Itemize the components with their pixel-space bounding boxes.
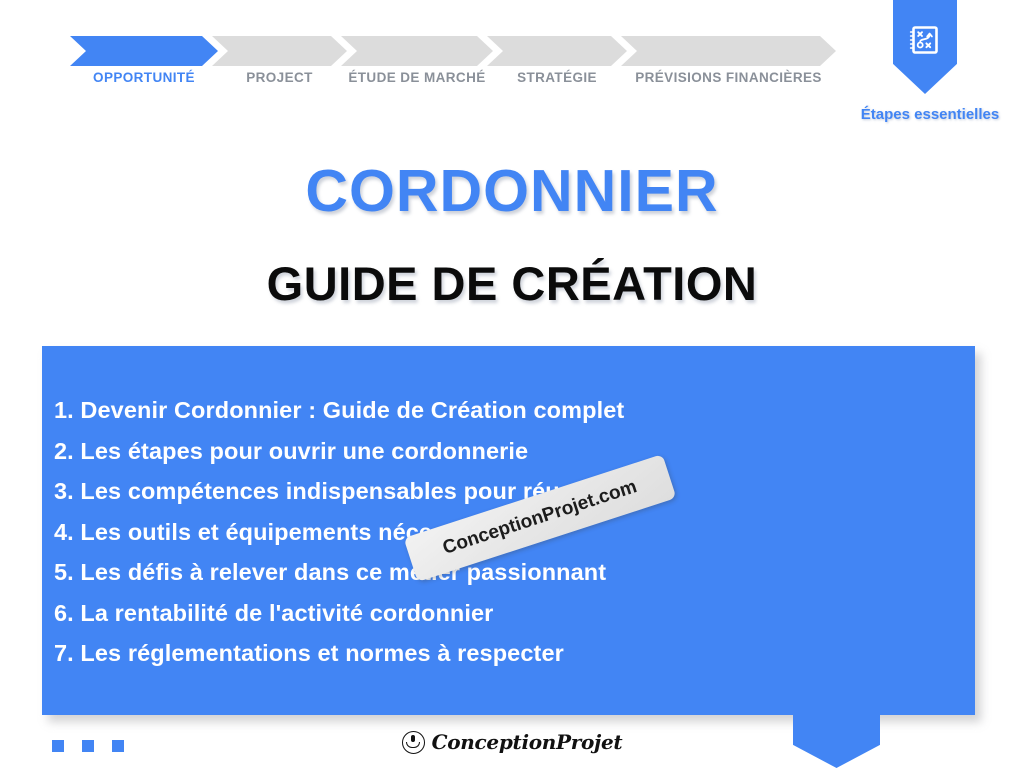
table-of-contents-item[interactable]: 1. Devenir Cordonnier : Guide de Créatio…	[54, 390, 965, 431]
slide-canvas: OPPORTUNITÉPROJECTÉTUDE DE MARCHÉSTRATÉG…	[0, 0, 1024, 768]
hand-care-icon	[402, 731, 425, 754]
page-subtitle: GUIDE DE CRÉATION	[0, 256, 1024, 311]
breadcrumb-step-label: PRÉVISIONS FINANCIÈRES	[635, 70, 822, 85]
footer-logo-text: ConceptionProjet	[432, 730, 623, 754]
bottom-ribbon	[793, 713, 880, 768]
breadcrumb-step-2[interactable]: PROJECT	[212, 36, 347, 66]
chevron-shape	[487, 36, 627, 66]
breadcrumb-step-label: PROJECT	[246, 70, 313, 85]
table-of-contents-item[interactable]: 5. Les défis à relever dans ce métier pa…	[54, 552, 965, 593]
breadcrumb: OPPORTUNITÉPROJECTÉTUDE DE MARCHÉSTRATÉG…	[70, 36, 860, 96]
breadcrumb-step-1[interactable]: OPPORTUNITÉ	[70, 36, 218, 66]
breadcrumb-step-4[interactable]: STRATÉGIE	[487, 36, 627, 66]
chevron-shape	[70, 36, 218, 66]
chevron-shape	[212, 36, 347, 66]
table-of-contents-item[interactable]: 2. Les étapes pour ouvrir une cordonneri…	[54, 431, 965, 472]
essential-steps-label: Étapes essentielles	[836, 106, 1024, 123]
chevron-shape	[341, 36, 493, 66]
table-of-contents-item[interactable]: 6. La rentabilité de l'activité cordonni…	[54, 593, 965, 634]
breadcrumb-step-3[interactable]: ÉTUDE DE MARCHÉ	[341, 36, 493, 66]
breadcrumb-step-5[interactable]: PRÉVISIONS FINANCIÈRES	[621, 36, 836, 66]
breadcrumb-step-label: STRATÉGIE	[517, 70, 597, 85]
chevron-shape	[621, 36, 836, 66]
table-of-contents-item[interactable]: 7. Les réglementations et normes à respe…	[54, 633, 965, 674]
page-title: CORDONNIER	[0, 157, 1024, 225]
breadcrumb-step-label: OPPORTUNITÉ	[93, 70, 195, 85]
essential-steps-ribbon	[893, 0, 957, 94]
breadcrumb-step-label: ÉTUDE DE MARCHÉ	[348, 70, 485, 85]
